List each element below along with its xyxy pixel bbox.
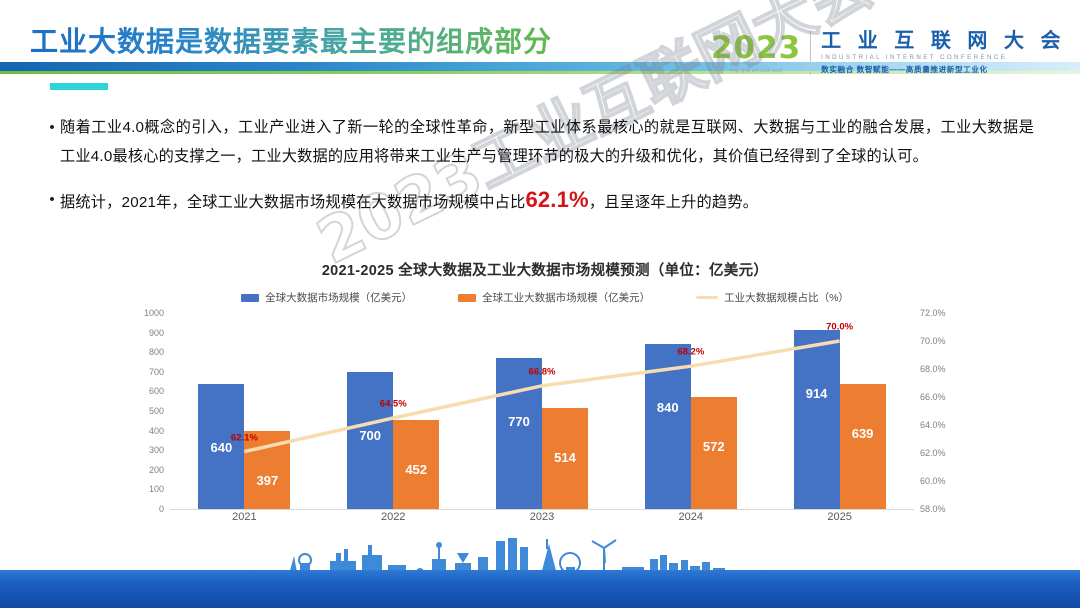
paragraph: 随着工业4.0概念的引入，工业产业进入了新一轮的全球性革命，新型工业体系最核心的… bbox=[60, 113, 1034, 171]
y-tick-label: 300 bbox=[149, 445, 164, 455]
bar-value-label: 639 bbox=[840, 426, 886, 441]
bullet-item: • 据统计，2021年，全球工业大数据市场规模在大数据市场规模中占比62.1%，… bbox=[44, 185, 1034, 217]
legend-swatch-icon bbox=[458, 294, 476, 302]
chart: 2021-2025 全球大数据及工业大数据市场规模预测（单位：亿美元） 全球大数… bbox=[130, 255, 960, 540]
bar[interactable]: 452 bbox=[393, 420, 439, 509]
slide-header: 工业大数据是数据要素最主要的组成部分 2023 中国·沈阳 8月13日-15日 … bbox=[0, 0, 1080, 88]
legend-line-icon bbox=[696, 296, 718, 299]
ratio-value-label: 64.5% bbox=[380, 399, 407, 410]
x-tick-label: 2025 bbox=[765, 511, 914, 523]
bar-value-label: 397 bbox=[244, 473, 290, 488]
ratio-value-label: 70.0% bbox=[826, 322, 853, 333]
bar[interactable]: 770 bbox=[496, 358, 542, 509]
bar-group: 914639 bbox=[765, 313, 914, 509]
bar-value-label: 572 bbox=[691, 439, 737, 454]
bullet-marker: • bbox=[44, 113, 60, 171]
bar[interactable]: 840 bbox=[645, 344, 691, 509]
legend-item-blue[interactable]: 全球大数据市场规模（亿美元） bbox=[241, 290, 412, 305]
y-tick-label: 1000 bbox=[144, 308, 164, 318]
bar-group: 770514 bbox=[468, 313, 617, 509]
paragraph-text-tail: ，且呈逐年上升的趋势。 bbox=[589, 194, 758, 211]
highlight-percent: 62.1% bbox=[525, 187, 588, 212]
paragraph-text: 随着工业4.0概念的引入，工业产业进入了新一轮的全球性革命，新型工业体系最核心的… bbox=[60, 119, 1034, 165]
y-axis-left: 10009008007006005004003002001000 bbox=[130, 313, 164, 509]
bar[interactable]: 639 bbox=[840, 384, 886, 509]
bar[interactable]: 572 bbox=[691, 397, 737, 509]
y2-tick-label: 60.0% bbox=[920, 476, 946, 486]
x-tick-label: 2021 bbox=[170, 511, 319, 523]
x-tick-label: 2023 bbox=[468, 511, 617, 523]
legend-label: 工业大数据规模占比（%） bbox=[724, 290, 849, 305]
bar-group: 640397 bbox=[170, 313, 319, 509]
y-tick-label: 100 bbox=[149, 484, 164, 494]
bar[interactable]: 640 bbox=[198, 384, 244, 509]
x-tick-label: 2024 bbox=[616, 511, 765, 523]
y2-tick-label: 62.0% bbox=[920, 448, 946, 458]
bar-value-label: 840 bbox=[645, 400, 691, 415]
logo-tagline: 数实融合 数智赋能——高质量推进新型工业化 bbox=[821, 64, 1066, 75]
bar-value-label: 914 bbox=[794, 386, 840, 401]
y2-tick-label: 70.0% bbox=[920, 336, 946, 346]
legend-label: 全球工业大数据市场规模（亿美元） bbox=[482, 290, 650, 305]
paragraph-text: 据统计，2021年，全球工业大数据市场规模在大数据市场规模中占比 bbox=[60, 194, 525, 211]
y-axis-right: 72.0%70.0%68.0%66.0%64.0%62.0%60.0%58.0% bbox=[920, 313, 960, 509]
y-tick-label: 500 bbox=[149, 406, 164, 416]
ratio-value-label: 68.2% bbox=[677, 347, 704, 358]
page-title: 工业大数据是数据要素最主要的组成部分 bbox=[30, 20, 552, 60]
paragraph: 据统计，2021年，全球工业大数据市场规模在大数据市场规模中占比62.1%，且呈… bbox=[60, 185, 1034, 217]
legend-label: 全球大数据市场规模（亿美元） bbox=[265, 290, 412, 305]
chart-legend: 全球大数据市场规模（亿美元） 全球工业大数据市场规模（亿美元） 工业大数据规模占… bbox=[130, 290, 960, 305]
bar-value-label: 452 bbox=[393, 462, 439, 477]
slide-footer bbox=[0, 538, 1080, 608]
logo-year-block: 2023 中国·沈阳 8月13日-15日 bbox=[711, 33, 810, 74]
logo-year: 2023 bbox=[711, 33, 801, 64]
y-tick-label: 400 bbox=[149, 426, 164, 436]
bar-value-label: 700 bbox=[347, 428, 393, 443]
x-tick-label: 2022 bbox=[319, 511, 468, 523]
bar[interactable]: 914 bbox=[794, 330, 840, 509]
header-cyan-accent bbox=[50, 83, 108, 90]
y-tick-label: 600 bbox=[149, 386, 164, 396]
slide: 工业大数据是数据要素最主要的组成部分 2023 中国·沈阳 8月13日-15日 … bbox=[0, 0, 1080, 608]
water-band bbox=[0, 570, 1080, 608]
logo-year-sub: 中国·沈阳 8月13日-15日 bbox=[729, 68, 782, 74]
bar[interactable]: 514 bbox=[542, 408, 588, 509]
y2-tick-label: 58.0% bbox=[920, 504, 946, 514]
y2-tick-label: 64.0% bbox=[920, 420, 946, 430]
bullet-item: • 随着工业4.0概念的引入，工业产业进入了新一轮的全球性革命，新型工业体系最核… bbox=[44, 113, 1034, 171]
legend-item-orange[interactable]: 全球工业大数据市场规模（亿美元） bbox=[458, 290, 650, 305]
chart-title: 2021-2025 全球大数据及工业大数据市场规模预测（单位：亿美元） bbox=[130, 259, 960, 280]
bar-group: 700452 bbox=[319, 313, 468, 509]
ratio-value-label: 66.8% bbox=[529, 366, 556, 377]
x-axis: 20212022202320242025 bbox=[170, 511, 914, 523]
logo-english-name: INDUSTRIAL INTERNET CONFERENCE bbox=[821, 54, 1066, 61]
bar-value-label: 514 bbox=[542, 450, 588, 465]
plot-canvas: 640397700452770514840572914639 62.1%64.5… bbox=[170, 313, 914, 510]
y-tick-label: 700 bbox=[149, 367, 164, 377]
logo-text-block: 工 业 互 联 网 大 会 INDUSTRIAL INTERNET CONFER… bbox=[811, 31, 1066, 75]
logo-chinese-name: 工 业 互 联 网 大 会 bbox=[821, 31, 1066, 52]
y-tick-label: 200 bbox=[149, 465, 164, 475]
y-tick-label: 800 bbox=[149, 347, 164, 357]
bar-groups: 640397700452770514840572914639 bbox=[170, 313, 914, 509]
y-tick-label: 900 bbox=[149, 328, 164, 338]
y-tick-label: 0 bbox=[159, 504, 164, 514]
ratio-value-label: 62.1% bbox=[231, 432, 258, 443]
legend-item-line[interactable]: 工业大数据规模占比（%） bbox=[696, 290, 849, 305]
bar-group: 840572 bbox=[616, 313, 765, 509]
bar-value-label: 770 bbox=[496, 414, 542, 429]
body-text: • 随着工业4.0概念的引入，工业产业进入了新一轮的全球性革命，新型工业体系最核… bbox=[44, 113, 1034, 231]
conference-logo: 2023 中国·沈阳 8月13日-15日 工 业 互 联 网 大 会 INDUS… bbox=[711, 26, 1066, 80]
bar[interactable]: 700 bbox=[347, 372, 393, 509]
y2-tick-label: 66.0% bbox=[920, 392, 946, 402]
y2-tick-label: 72.0% bbox=[920, 308, 946, 318]
y2-tick-label: 68.0% bbox=[920, 364, 946, 374]
legend-swatch-icon bbox=[241, 294, 259, 302]
bullet-marker: • bbox=[44, 185, 60, 217]
plot-area: 10009008007006005004003002001000 72.0%70… bbox=[130, 313, 960, 535]
